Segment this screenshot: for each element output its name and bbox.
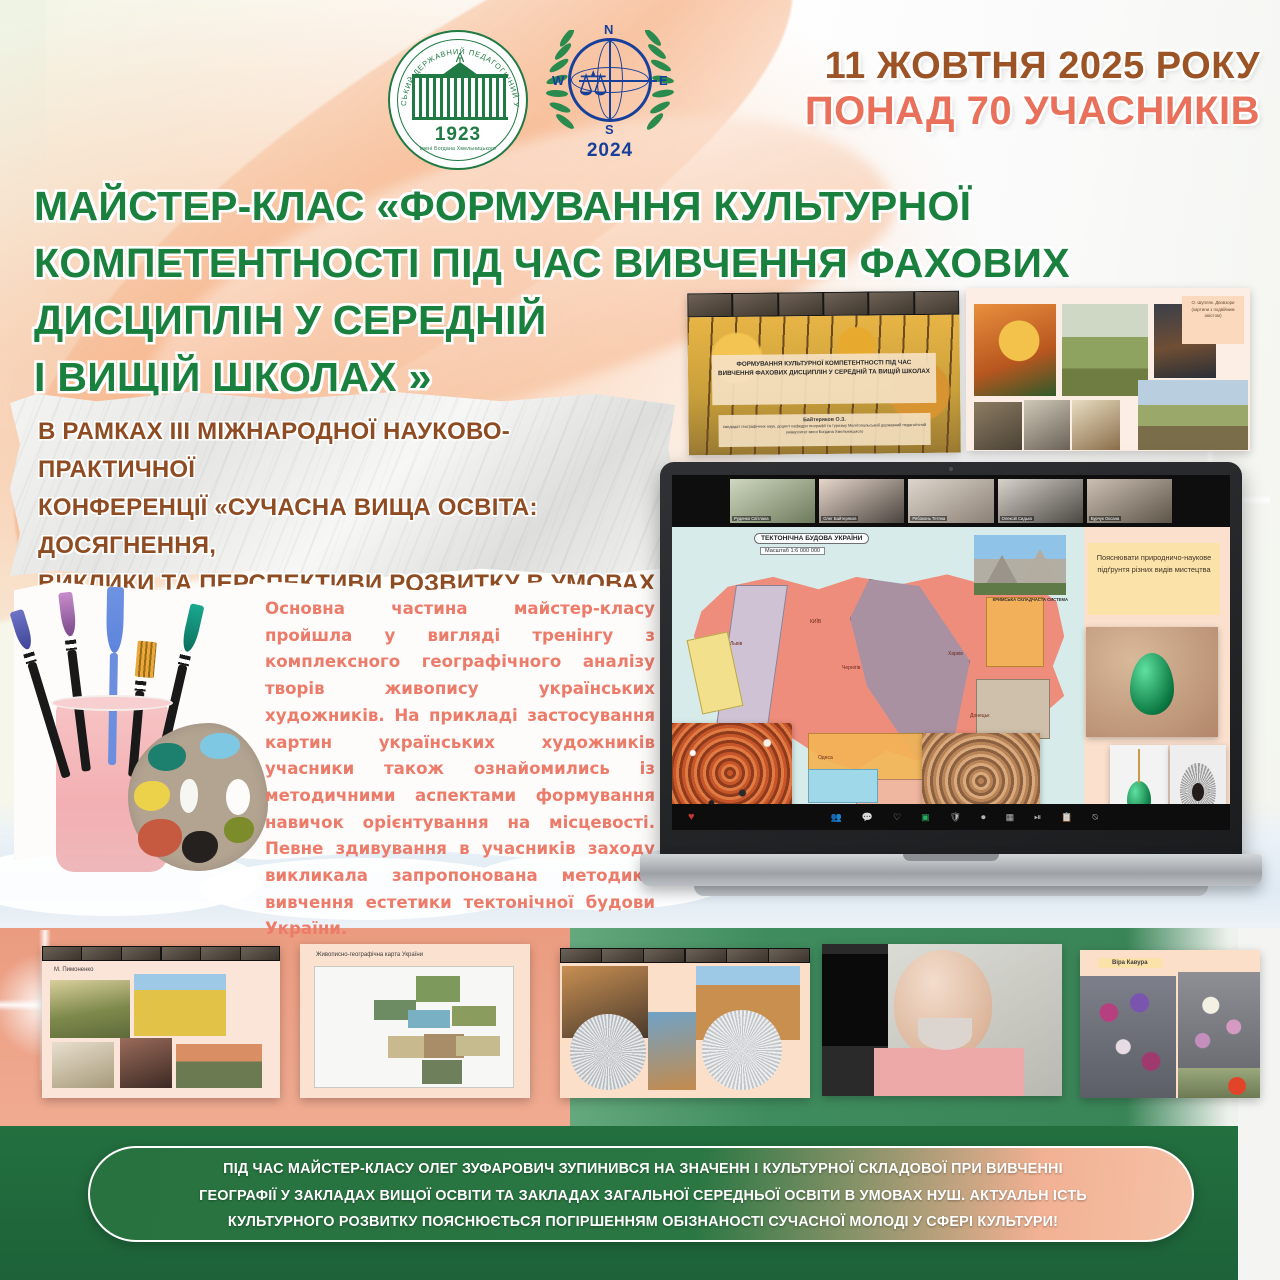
more-icon[interactable]: ⍉ [1085, 812, 1106, 823]
participant-tile [915, 292, 959, 314]
video-tile-name: Руденко Світлана [732, 516, 771, 521]
video-thumb [769, 949, 809, 963]
map-city-donetsk: Донецьк [970, 713, 989, 719]
participant-tile [824, 293, 868, 315]
record-icon[interactable]: ⏺ [973, 812, 994, 823]
video-tile[interactable]: Олег Байтеряков [819, 479, 904, 523]
jar-rim [51, 695, 173, 711]
coin-silver-reverse [702, 1010, 782, 1090]
painting-harvest-pair [50, 980, 130, 1038]
video-tile-name: Бурчук Оксана [1089, 516, 1121, 521]
laptop-lid: Руденко Світлана Олег Байтеряков Рябокон… [660, 462, 1242, 860]
crimean-mountains-photo [974, 535, 1066, 595]
video-tile[interactable]: Руденко Світлана [730, 479, 815, 523]
microscope-icon: ⚖ [578, 62, 612, 106]
painting-portrait-b [1024, 400, 1070, 450]
banner-line-2: ГЕОГРАФІЇ У ЗАКЛАДАХ ВИЩОЇ ОСВІТИ ТА ЗАК… [110, 1183, 1176, 1210]
slide-note-box: Пояснювати природничо-наукове підґрунтя … [1088, 543, 1220, 615]
video-tile[interactable]: Олексій Сидько [998, 479, 1083, 523]
presentation-slide-photo: ФОРМУВАННЯ КУЛЬТУРНОЇ КОМПЕТЕНТНОСТІ ПІД… [687, 291, 961, 456]
flowers-label: Віра Кавура [1098, 958, 1162, 968]
slide-author-affiliation: кандидат географічних наук, доцент кафед… [723, 422, 927, 436]
map-zone-black-sea [808, 769, 878, 803]
collage-note-label: О. Шупляк. Двовзори (картини з подвійним… [1182, 296, 1244, 344]
speaker-shirt [874, 1048, 1024, 1096]
video-thumb [727, 949, 767, 963]
captions-icon[interactable]: ▦ [998, 812, 1023, 823]
video-thumb [201, 947, 239, 961]
painting-portrait-c [1072, 400, 1120, 450]
paint-blob-skyblue [200, 733, 240, 759]
dark-gemstone [1192, 783, 1204, 801]
video-thumb [561, 949, 601, 963]
map-zone-orange-east [986, 597, 1044, 667]
art-supplies-illustration [18, 585, 268, 885]
map-city-chernihiv: Чернігів [842, 665, 860, 671]
video-thumb [122, 947, 160, 961]
reactions-icon[interactable]: ♡ [885, 812, 909, 823]
map-photo-pin-7 [456, 1036, 500, 1056]
painting-bouquet-purple [1080, 976, 1176, 1098]
video-tile-name: Рябоконь Тетяна [910, 516, 947, 521]
event-date: 11 ЖОВТНЯ 2025 РОКУ [700, 44, 1260, 89]
speaker-monitor [822, 954, 888, 1046]
bottom-photo-coins [560, 948, 810, 1098]
paint-blob-red [138, 819, 182, 857]
painting-cottage [52, 1042, 114, 1088]
pymonenko-label: М. Пимоненко [54, 967, 93, 973]
body-paragraph: Основна частина майстер-класу пройшла у … [265, 596, 655, 943]
granite-rock-photo-right [922, 733, 1040, 804]
video-tile-name: Олег Байтеряков [821, 516, 858, 521]
seal-year: 1923 [390, 124, 526, 146]
slide-participant-strip [687, 291, 959, 318]
bottom-photo-flowers: Віра Кавура [1080, 950, 1260, 1098]
map-photo-pin-8 [422, 1060, 462, 1084]
subtitle-line-1: В РАМКАХ III МІЖНАРОДНОЇ НАУКОВО-ПРАКТИЧ… [38, 413, 658, 489]
gold-chain [1138, 749, 1140, 783]
paint-blob-black [182, 831, 218, 863]
mountain-label: КРИМСЬКА СКЛАДЧАСТА СИСТЕМА [993, 597, 1068, 602]
compass-east-label: E [659, 73, 668, 88]
speaker-beard [918, 1018, 972, 1050]
heart-icon[interactable]: ♥ [680, 811, 703, 823]
video-call-toolbar: ♥ 👥 💬 ♡ ▣ 🛡 ⏺ ▦ ⏯ 📋 ⍉ [672, 804, 1230, 830]
university-seal-logo: МЕЛІТОПОЛЬСЬКИЙ ДЕРЖАВНИЙ ПЕДАГОГІЧНИЙ У… [388, 30, 528, 170]
compass-west-label: W [552, 73, 564, 88]
security-icon[interactable]: 🛡 [942, 812, 969, 823]
map-city-kyiv: КИЇВ [810, 619, 821, 625]
conference-year: 2024 [540, 140, 680, 162]
paint-blob-olive [224, 817, 254, 843]
participant-tile [733, 293, 777, 315]
banner-line-3: КУЛЬТУРНОГО РОЗВИТКУ ПОЯСНЮЄТЬСЯ ПОГІРШЕ… [110, 1209, 1176, 1236]
subtitle-line-2: КОНФЕРЕНЦІЇ «СУЧАСНА ВИЩА ОСВІТА: ДОСЯГН… [38, 489, 658, 565]
laptop-foot [694, 886, 1208, 896]
map-photo-pin-4 [452, 1006, 496, 1026]
painting-rowan-berries [1178, 1068, 1260, 1098]
painting-portrait-a [974, 402, 1022, 450]
painting-mother-child [120, 1038, 172, 1088]
share-screen-icon[interactable]: ▣ [913, 812, 938, 823]
art-collage-photo: О. Шупляк. Двовзори (картини з подвійним… [966, 288, 1250, 451]
laptop-trackpad-notch [903, 854, 999, 861]
picturesque-map-label: Живописно-географічна карта України [316, 952, 423, 958]
video-tile[interactable]: Бурчук Оксана [1087, 479, 1172, 523]
logo-group: МЕЛІТОПОЛЬСЬКИЙ ДЕРЖАВНИЙ ПЕДАГОГІЧНИЙ У… [388, 22, 678, 182]
chat-icon[interactable]: 💬 [854, 812, 881, 823]
summary-banner-text: ПІД ЧАС МАЙСТЕР-КЛАСУ ОЛЕГ ЗУФАРОВИЧ ЗУП… [110, 1156, 1176, 1236]
pause-icon[interactable]: ⏯ [1026, 812, 1049, 823]
laptop-base [640, 854, 1262, 886]
painting-bouquet-white [1178, 972, 1260, 1070]
map-photo-pin-3 [408, 1010, 450, 1028]
compass-south-label: S [605, 122, 614, 137]
granite-rock-photo-left [672, 723, 792, 804]
participants-count: ПОНАД 70 УЧАСНИКІВ [700, 89, 1260, 134]
building-colonnade [412, 74, 508, 120]
video-thumb [602, 949, 642, 963]
paint-blob-yellow [134, 781, 170, 811]
paintbrush-1 [11, 609, 73, 779]
coin-booklet [648, 1012, 696, 1090]
map-zone-donetsk-fold [976, 679, 1050, 739]
participant-tile [779, 293, 823, 315]
tectonic-map: ТЕКТОНІЧНА БУДОВА УКРАЇНИ Масштаб 1:6 00… [672, 527, 1084, 804]
bottom-photo-pymonenko: М. Пимоненко [42, 946, 280, 1098]
bottom-photo-speaker [822, 944, 1062, 1096]
slide-author-block: Байтеряков О.З. кандидат географічних на… [718, 413, 930, 447]
conference-logo: ⚖ N S W E 2024 [540, 22, 680, 182]
coin-silver-obverse [570, 1014, 646, 1090]
video-thumb [644, 949, 684, 963]
photo-video-strip [42, 946, 280, 961]
participant-tile [869, 292, 913, 314]
painting-wheat-field [134, 974, 226, 1036]
green-gemstone [1130, 653, 1174, 715]
notes-icon[interactable]: 📋 [1053, 812, 1080, 823]
video-participant-strip: Руденко Світлана Олег Байтеряков Рябокон… [672, 475, 1230, 527]
map-city-lviv: Львів [730, 641, 742, 647]
map-scale: Масштаб 1:6 000 000 [760, 547, 825, 555]
participant-tile [688, 294, 732, 316]
banner-line-1: ПІД ЧАС МАЙСТЕР-КЛАСУ ОЛЕГ ЗУФАРОВИЧ ЗУП… [110, 1156, 1176, 1183]
map-photo-pin-1 [416, 976, 460, 1002]
map-city-kharkiv: Харків [948, 651, 963, 657]
mountain-foliage [974, 583, 1066, 595]
seal-subtitle: імені Богдана Хмельницького [390, 146, 526, 152]
participants-icon[interactable]: 👥 [823, 812, 850, 823]
bottom-photo-picturesque-map: Живописно-географічна карта України [300, 944, 530, 1098]
event-date-block: 11 ЖОВТНЯ 2025 РОКУ ПОНАД 70 УЧАСНИКІВ [700, 44, 1260, 134]
paint-blob-teal [148, 743, 186, 771]
painting-cossack-battle [1138, 380, 1248, 450]
slide-title-text: ФОРМУВАННЯ КУЛЬТУРНОЇ КОМПЕТЕНТНОСТІ ПІД… [712, 353, 937, 405]
page-title-line-1: МАЙСТЕР-КЛАС «ФОРМУВАННЯ КУЛЬТУРНОЇ [34, 178, 1254, 235]
shared-slide: ТЕКТОНІЧНА БУДОВА УКРАЇНИ Масштаб 1:6 00… [672, 527, 1230, 804]
video-thumb [241, 947, 279, 961]
palette-thumb-hole [226, 779, 250, 815]
video-tile[interactable]: Рябоконь Тетяна [908, 479, 993, 523]
compass-north-label: N [604, 22, 613, 37]
laptop-mockup: Руденко Світлана Олег Байтеряков Рябокон… [640, 462, 1262, 932]
page-title-line-2: КОМПЕТЕНТНОСТІ ПІД ЧАС ВИВЧЕННЯ ФАХОВИХ [34, 235, 1254, 292]
poster-canvas: МЕЛІТОПОЛЬСЬКИЙ ДЕРЖАВНИЙ ПЕДАГОГІЧНИЙ У… [0, 0, 1280, 1280]
video-thumb [686, 949, 726, 963]
photo-video-strip [560, 948, 810, 963]
painting-landscape-face [1062, 304, 1148, 396]
video-thumb [82, 947, 120, 961]
video-thumb [43, 947, 81, 961]
map-city-odesa: Одеса [818, 755, 833, 761]
jewelry-photo-pendant-large [1086, 627, 1218, 737]
laptop-screen: Руденко Світлана Олег Байтеряков Рябокон… [672, 475, 1230, 830]
palette-knife [106, 587, 124, 765]
painting-vangogh-double [974, 304, 1056, 396]
video-tile-name: Олексій Сидько [1000, 516, 1035, 521]
map-title: ТЕКТОНІЧНА БУДОВА УКРАЇНИ [754, 533, 869, 544]
painting-sunset-geese [176, 1044, 262, 1088]
video-thumb [162, 947, 200, 961]
webcam-icon [949, 467, 953, 471]
paint-blob-white [180, 779, 198, 813]
